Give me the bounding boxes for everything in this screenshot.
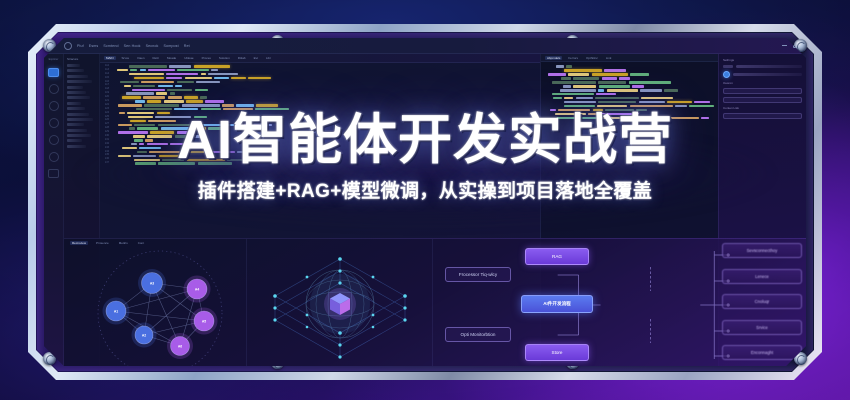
core-visual-svg	[247, 239, 433, 366]
code-token	[556, 117, 598, 119]
code-line[interactable]	[114, 84, 537, 87]
property-value-bar	[733, 73, 802, 76]
code-token	[566, 65, 572, 67]
code-token	[139, 147, 161, 149]
code-token	[597, 105, 628, 107]
code-line[interactable]	[545, 77, 714, 80]
code-token	[227, 159, 255, 161]
code-token	[641, 97, 673, 99]
code-token	[177, 131, 195, 133]
activity-bar-header: Explorer	[49, 58, 59, 61]
node-label: A5	[202, 319, 206, 323]
active-toggle[interactable]	[723, 71, 730, 78]
graph-node-A1[interactable]: A1	[103, 298, 130, 325]
editor-tab-bar[interactable]: MAINSrvceOaenRettrMoadeUtiloaeProcesSolu…	[100, 54, 540, 63]
code-line[interactable]	[114, 65, 537, 68]
properties-row-1[interactable]	[723, 65, 802, 68]
code-token	[629, 81, 671, 83]
code-token	[129, 127, 135, 129]
code-token	[170, 92, 175, 94]
code-token	[166, 73, 198, 75]
code-line[interactable]	[114, 131, 537, 134]
code-line[interactable]	[545, 109, 714, 112]
card-item-3[interactable]: Srvice	[722, 320, 802, 335]
code-token	[196, 81, 220, 83]
code-line[interactable]	[545, 65, 714, 68]
editor-tab-2[interactable]: Oaen	[135, 56, 146, 60]
code-token	[211, 69, 218, 71]
code-line[interactable]	[114, 143, 537, 146]
code-line[interactable]	[114, 116, 537, 119]
code-token	[664, 89, 678, 91]
code-token	[588, 113, 598, 115]
explorer-file-row[interactable]	[67, 69, 84, 72]
code-token	[593, 109, 603, 111]
code-token	[205, 100, 224, 102]
code-token	[561, 77, 571, 79]
code-token	[194, 65, 230, 67]
code-token	[667, 101, 692, 103]
code-token	[600, 117, 643, 119]
flow-left-box-0[interactable]: Frocessor Tiq-wlcy	[445, 267, 511, 282]
code-token	[236, 124, 260, 126]
code-token	[694, 101, 710, 103]
debug-icon[interactable]	[49, 118, 59, 128]
browser-toolbar[interactable]: Pluf Esms Scmtend Sen Hook Secnok Sompos…	[44, 38, 806, 54]
extensions-icon[interactable]	[49, 135, 59, 145]
secondary-tab-2[interactable]: Opthitinc	[584, 56, 600, 60]
code-token	[632, 85, 644, 87]
editor-tab-1[interactable]: Srvce	[120, 56, 132, 60]
code-token	[196, 127, 206, 129]
code-token	[122, 147, 137, 149]
code-token	[552, 81, 596, 83]
code-token	[127, 112, 154, 114]
code-line[interactable]	[545, 105, 714, 108]
code-token	[118, 155, 131, 157]
editor-tab-4[interactable]: Moade	[165, 56, 178, 60]
code-line[interactable]	[114, 69, 537, 72]
activity-bar[interactable]: Explorer	[44, 54, 64, 366]
code-token	[195, 89, 208, 91]
code-token	[135, 162, 156, 164]
code-token	[141, 81, 174, 83]
code-token	[701, 117, 709, 119]
code-token	[129, 73, 164, 75]
explorer-file-row[interactable]	[67, 129, 87, 132]
node-label: A2	[142, 333, 146, 337]
code-token	[155, 116, 191, 118]
code-line[interactable]	[114, 92, 537, 95]
code-token	[120, 81, 139, 83]
code-line[interactable]	[114, 112, 537, 115]
editor-tab-7[interactable]: Solution	[217, 56, 232, 60]
code-line[interactable]	[114, 139, 537, 142]
property-chip	[723, 65, 733, 68]
node-label: A1	[114, 309, 118, 313]
code-token	[184, 96, 198, 98]
browser-menu-item-5[interactable]: Sompost	[164, 44, 179, 48]
code-line[interactable]	[114, 73, 537, 76]
code-token	[182, 104, 220, 106]
flow-center-box[interactable]: AI件开发流程	[521, 295, 593, 313]
code-token	[595, 97, 639, 99]
code-line[interactable]	[114, 77, 537, 80]
properties-header: Sethngs	[723, 58, 802, 62]
code-line[interactable]	[114, 96, 537, 99]
code-token	[124, 85, 131, 87]
flow-left-box-1[interactable]: Opti Monitorbtion	[445, 327, 511, 342]
code-token	[564, 97, 573, 99]
browser-menu-item-0[interactable]: Pluf	[77, 44, 84, 48]
code-token	[122, 96, 141, 98]
code-token	[119, 112, 125, 114]
code-token	[126, 92, 154, 94]
code-line[interactable]	[114, 127, 537, 130]
code-token	[646, 117, 669, 119]
code-token	[639, 101, 665, 103]
explorer-file-row[interactable]	[67, 123, 84, 126]
code-token	[133, 135, 145, 137]
code-token	[671, 117, 699, 119]
code-token	[573, 85, 596, 87]
code-line[interactable]	[545, 85, 714, 88]
code-line[interactable]	[114, 147, 537, 150]
code-token	[619, 77, 630, 79]
code-token	[231, 77, 246, 79]
code-token	[598, 101, 636, 103]
editor-tab-5[interactable]: Utiloae	[182, 56, 195, 60]
node-label: A4	[195, 287, 199, 291]
code-token	[157, 112, 170, 114]
code-line[interactable]	[114, 100, 537, 103]
graph-node-A3[interactable]: A3	[138, 269, 166, 297]
code-token	[148, 120, 176, 122]
code-token	[194, 116, 207, 118]
code-token	[607, 89, 638, 91]
browser-menu-item-4[interactable]: Secnok	[146, 44, 159, 48]
code-token	[147, 143, 168, 145]
code-token	[596, 93, 616, 95]
ai-core-visual	[246, 239, 432, 366]
node-label: A6	[178, 344, 182, 348]
code-token	[564, 69, 602, 71]
code-token	[158, 124, 194, 126]
code-token	[604, 69, 626, 71]
code-token	[236, 104, 254, 106]
code-token	[134, 124, 155, 126]
explorer-file-row[interactable]	[67, 96, 90, 99]
code-token	[187, 159, 225, 161]
code-token	[555, 113, 586, 115]
code-token	[137, 151, 147, 153]
code-token	[560, 89, 596, 91]
secondary-tab-0[interactable]: Abpmdels	[545, 56, 562, 60]
code-line[interactable]	[114, 162, 537, 165]
code-token	[133, 85, 155, 87]
code-token	[118, 131, 148, 133]
explorer-file-row[interactable]	[67, 75, 88, 78]
browser-menu-item-3[interactable]: Sen Hook	[124, 44, 141, 48]
code-token	[564, 105, 595, 107]
card-item-2[interactable]: Cnoluqr	[722, 294, 802, 309]
code-token	[130, 69, 137, 71]
code-token	[601, 113, 639, 115]
code-token	[636, 109, 647, 111]
code-token	[602, 77, 617, 79]
editor-tab-0[interactable]: MAIN	[104, 56, 116, 60]
code-token	[208, 127, 224, 129]
code-token	[135, 100, 145, 102]
code-token	[563, 85, 571, 87]
properties-section-2: Conten Lisk	[723, 106, 802, 110]
explorer-file-row[interactable]	[67, 139, 82, 142]
code-line[interactable]	[545, 73, 714, 76]
code-token	[147, 135, 172, 137]
property-field-2[interactable]	[723, 113, 802, 119]
explorer-file-list[interactable]	[67, 64, 96, 148]
code-token	[134, 139, 143, 141]
graph-node-A6[interactable]: A6	[167, 333, 193, 359]
line-number: 137	[105, 162, 109, 165]
secondary-panel-tab-bar[interactable]: AbpmdelsFerrorsOpthitincLink	[541, 54, 718, 62]
code-token	[552, 93, 594, 95]
network-graph-svg: A1A2A3A4A5A6	[64, 239, 246, 366]
explorer-file-row[interactable]	[67, 113, 89, 116]
property-field-1[interactable]	[723, 97, 802, 103]
code-token	[134, 159, 160, 161]
code-token	[170, 143, 208, 145]
flow-top-box[interactable]: RAG	[525, 248, 589, 265]
code-token	[131, 143, 137, 145]
code-token	[689, 105, 714, 107]
browser-menu-item-6[interactable]: Ret	[184, 44, 190, 48]
code-token	[136, 108, 172, 110]
code-token	[223, 108, 253, 110]
editor-tab-3[interactable]: Rettr	[151, 56, 162, 60]
minimize-icon[interactable]	[782, 45, 787, 46]
secondary-tab-3[interactable]: Link	[604, 56, 614, 60]
code-line[interactable]	[114, 154, 537, 157]
code-token	[117, 69, 128, 71]
code-token	[118, 124, 132, 126]
properties-row-2[interactable]	[723, 71, 802, 78]
code-token	[201, 108, 221, 110]
explorer-file-row[interactable]	[67, 64, 80, 67]
code-token	[143, 96, 165, 98]
code-line[interactable]	[114, 151, 537, 154]
graph-node-A5[interactable]: A5	[191, 308, 218, 335]
code-token	[255, 108, 289, 110]
code-token	[130, 120, 146, 122]
explorer-file-row[interactable]	[67, 145, 86, 148]
editor-tab-9[interactable]: Evt	[252, 56, 260, 60]
code-token	[201, 73, 206, 75]
code-line[interactable]	[545, 93, 714, 96]
browser-menu-item-2[interactable]: Scmtend	[103, 44, 118, 48]
code-token	[149, 151, 180, 153]
code-line[interactable]	[114, 158, 537, 161]
code-token	[208, 73, 238, 75]
code-line[interactable]	[545, 113, 714, 116]
cube-glow	[324, 288, 356, 320]
code-line[interactable]	[545, 97, 714, 100]
code-line[interactable]	[545, 89, 714, 92]
card-item-4[interactable]: Enconnaght	[722, 345, 802, 360]
code-token	[186, 100, 203, 102]
code-token	[175, 135, 190, 137]
properties-section-1: Oesron	[723, 81, 802, 85]
explorer-file-row[interactable]	[67, 118, 93, 121]
code-token	[144, 104, 179, 106]
architecture-flowchart: Frocessor Tiq-wlcy Opti Monitorbtion RAG…	[432, 239, 806, 366]
agent-network-graph: A1A2A3A4A5A6	[64, 239, 246, 366]
code-token	[592, 73, 628, 75]
lower-dashboard: RecroviewPrnsenceMettrisCont A1A2A3A4A5A…	[64, 238, 806, 366]
code-token	[548, 73, 566, 75]
code-token	[139, 143, 144, 145]
code-line[interactable]	[114, 119, 537, 122]
code-line[interactable]	[114, 81, 537, 84]
code-token	[174, 108, 198, 110]
code-token	[558, 109, 590, 111]
code-token	[198, 162, 232, 164]
code-token	[177, 69, 209, 71]
code-line[interactable]	[114, 123, 537, 126]
code-token	[158, 162, 195, 164]
code-token	[175, 85, 182, 87]
code-token	[222, 104, 234, 106]
code-token	[148, 69, 175, 71]
code-token	[133, 155, 156, 157]
code-token	[140, 69, 146, 71]
source-control-icon[interactable]	[49, 101, 59, 111]
code-line[interactable]	[545, 117, 714, 120]
search-icon[interactable]	[49, 84, 59, 94]
code-token	[164, 100, 184, 102]
code-token	[556, 65, 564, 67]
files-icon[interactable]	[48, 68, 59, 77]
code-token	[598, 81, 626, 83]
explorer-file-row[interactable]	[67, 80, 92, 83]
code-token	[147, 100, 161, 102]
editor-tab-6[interactable]: Proces	[200, 56, 213, 60]
code-token	[248, 77, 271, 79]
property-field-0[interactable]	[723, 88, 802, 94]
code-token	[118, 104, 142, 106]
code-line[interactable]	[114, 135, 537, 138]
code-token	[169, 65, 191, 67]
graph-nodes: A1A2A3A4A5A6	[103, 269, 218, 359]
card-item-0[interactable]: Sevsconnecthoy	[722, 243, 802, 258]
code-token	[206, 151, 235, 153]
browser-menu-item-1[interactable]: Esms	[89, 44, 99, 48]
code-token	[262, 124, 272, 126]
code-token	[568, 73, 589, 75]
code-line[interactable]	[114, 88, 537, 91]
explorer-file-row[interactable]	[67, 91, 86, 94]
code-line[interactable]	[545, 101, 714, 104]
code-token	[192, 135, 201, 137]
code-token	[605, 109, 634, 111]
explorer-file-row[interactable]	[67, 107, 85, 110]
explorer-file-row[interactable]	[67, 134, 91, 137]
code-token	[159, 155, 182, 157]
code-token	[576, 97, 593, 99]
code-token	[161, 127, 194, 129]
flow-bottom-box[interactable]: Store	[525, 344, 589, 361]
explorer-header: Stracure	[67, 57, 96, 61]
code-token	[214, 77, 229, 79]
code-token	[630, 73, 649, 75]
code-token	[134, 77, 164, 79]
code-token	[237, 151, 244, 153]
code-token	[630, 105, 673, 107]
graph-node-A4[interactable]: A4	[184, 276, 211, 303]
code-token	[158, 85, 173, 87]
code-token	[129, 65, 167, 67]
code-token	[162, 159, 184, 161]
code-token	[550, 109, 556, 111]
code-token	[599, 85, 630, 87]
code-token	[196, 124, 234, 126]
code-token	[598, 89, 604, 91]
code-line[interactable]	[545, 69, 714, 72]
code-token	[168, 96, 182, 98]
code-token	[150, 131, 174, 133]
card-item-1[interactable]: Lenece	[722, 269, 802, 284]
code-token	[675, 105, 687, 107]
explorer-file-row[interactable]	[67, 86, 83, 89]
code-token	[183, 151, 204, 153]
code-token	[553, 97, 562, 99]
account-icon[interactable]	[49, 152, 59, 162]
screen-content: Pluf Esms Scmtend Sen Hook Secnok Sompos…	[44, 38, 806, 366]
code-token	[564, 101, 596, 103]
graph-node-A2[interactable]: A2	[132, 323, 157, 348]
code-token	[156, 92, 167, 94]
code-token	[145, 139, 153, 141]
code-token	[167, 89, 192, 91]
editor-tab-8[interactable]: Rtitab	[236, 56, 248, 60]
code-token	[177, 81, 194, 83]
code-token	[256, 104, 278, 106]
code-token	[200, 96, 207, 98]
code-token	[137, 127, 158, 129]
explorer-file-row[interactable]	[67, 102, 81, 105]
code-line[interactable]	[114, 108, 537, 111]
code-token	[166, 77, 182, 79]
node-label: A3	[150, 281, 154, 285]
home-circle-icon[interactable]	[64, 42, 72, 50]
code-line[interactable]	[545, 81, 714, 84]
settings-icon[interactable]	[48, 169, 59, 178]
code-token	[640, 89, 662, 91]
code-token	[573, 77, 599, 79]
property-value-bar	[736, 65, 802, 68]
code-token	[128, 116, 153, 118]
secondary-tab-1[interactable]: Ferrors	[566, 56, 580, 60]
code-line[interactable]	[114, 104, 537, 107]
code-token	[132, 89, 165, 91]
code-token	[185, 77, 212, 79]
editor-tab-10[interactable]: Libr	[264, 56, 273, 60]
